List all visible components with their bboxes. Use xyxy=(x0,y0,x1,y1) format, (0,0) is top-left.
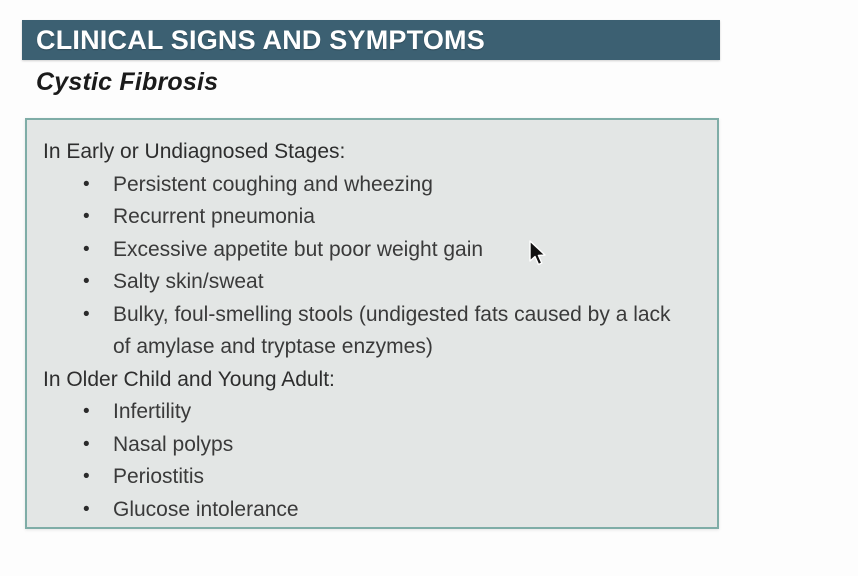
bullet-point-icon: • xyxy=(83,396,113,429)
list-item: •Recurrent pneumonia xyxy=(41,201,699,234)
list-item-label: Recurrent pneumonia xyxy=(113,201,699,234)
bullet-point-icon: • xyxy=(83,169,113,202)
symptoms-content-box: In Early or Undiagnosed Stages:•Persiste… xyxy=(25,118,719,529)
bullet-point-icon: • xyxy=(83,461,113,494)
list-item-label: Salty skin/sweat xyxy=(113,266,699,299)
list-item: •Nasal polyps xyxy=(41,429,699,462)
slide-canvas: CLINICAL SIGNS AND SYMPTOMS Cystic Fibro… xyxy=(0,0,858,576)
section-heading: In Older Child and Young Adult: xyxy=(41,364,699,397)
list-item-label: Excessive appetite but poor weight gain xyxy=(113,234,699,267)
list-item: •Infertility xyxy=(41,396,699,429)
list-item: •Persistent coughing and wheezing xyxy=(41,169,699,202)
symptom-list: In Early or Undiagnosed Stages:•Persiste… xyxy=(41,136,699,526)
list-item-label: Infertility xyxy=(113,396,699,429)
list-item: •Glucose intolerance xyxy=(41,494,699,527)
list-item: •Excessive appetite but poor weight gain xyxy=(41,234,699,267)
list-item-label: Periostitis xyxy=(113,461,699,494)
list-item: •Periostitis xyxy=(41,461,699,494)
list-item: •Salty skin/sweat xyxy=(41,266,699,299)
list-item-label: Nasal polyps xyxy=(113,429,699,462)
section-heading: In Early or Undiagnosed Stages: xyxy=(41,136,699,169)
list-item-label: Glucose intolerance xyxy=(113,494,699,527)
list-item: •Bulky, foul-smelling stools (undigested… xyxy=(41,299,699,364)
slide-title-bar: CLINICAL SIGNS AND SYMPTOMS xyxy=(22,20,720,60)
list-item-label: Persistent coughing and wheezing xyxy=(113,169,699,202)
page-title: CLINICAL SIGNS AND SYMPTOMS xyxy=(36,27,485,54)
list-item-label: Bulky, foul-smelling stools (undigested … xyxy=(113,299,699,364)
bullet-point-icon: • xyxy=(83,201,113,234)
bullet-point-icon: • xyxy=(83,234,113,267)
slide-subtitle: Cystic Fibrosis xyxy=(36,68,218,97)
bullet-point-icon: • xyxy=(83,299,113,332)
bullet-point-icon: • xyxy=(83,429,113,462)
bullet-point-icon: • xyxy=(83,266,113,299)
bullet-point-icon: • xyxy=(83,494,113,527)
